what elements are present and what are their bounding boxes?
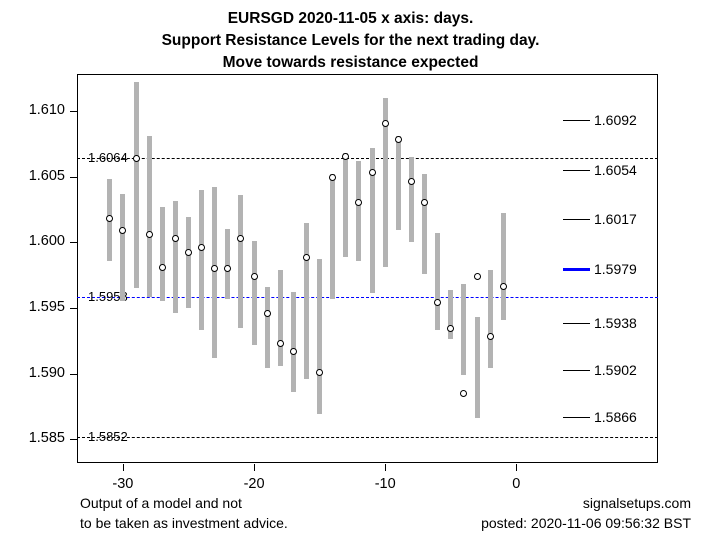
y-tick-mark — [70, 308, 77, 309]
disclaimer-line-2: to be taken as investment advice. — [80, 515, 288, 531]
y-tick-label: 1.610 — [5, 102, 65, 118]
level-line — [77, 437, 658, 438]
price-range-bar — [120, 194, 125, 302]
close-marker — [159, 264, 166, 271]
price-range-bar — [409, 157, 414, 242]
close-marker — [172, 235, 179, 242]
y-tick-mark — [70, 177, 77, 178]
price-range-bar — [291, 292, 296, 392]
x-tick-mark — [385, 464, 386, 471]
close-marker — [369, 169, 376, 176]
chart-title: EURSGD 2020-11-05 x axis: days. Support … — [0, 8, 701, 74]
close-marker — [146, 231, 153, 238]
close-marker — [198, 244, 205, 251]
close-marker — [316, 369, 323, 376]
legend-label: 1.5866 — [594, 409, 637, 425]
y-tick-label: 1.595 — [5, 299, 65, 315]
price-range-bar — [304, 223, 309, 379]
price-range-bar — [356, 161, 361, 261]
legend-label: 1.5902 — [594, 362, 637, 378]
x-tick-mark — [516, 464, 517, 471]
price-range-bar — [252, 241, 257, 345]
legend-marker — [563, 417, 590, 418]
close-marker — [290, 348, 297, 355]
price-range-bar — [238, 195, 243, 328]
price-range-bar — [330, 174, 335, 299]
price-range-bar — [422, 174, 427, 274]
price-range-bar — [475, 317, 480, 418]
x-tick-label: -10 — [355, 476, 415, 492]
price-range-bar — [343, 153, 348, 257]
y-tick-label: 1.600 — [5, 233, 65, 249]
y-tick-mark — [70, 439, 77, 440]
legend-label: 1.5979 — [594, 261, 637, 277]
y-tick-label: 1.585 — [5, 430, 65, 446]
level-line-label: 1.5852 — [88, 429, 128, 444]
y-tick-mark — [70, 374, 77, 375]
x-tick-label: -30 — [93, 476, 153, 492]
y-tick-label: 1.590 — [5, 365, 65, 381]
price-range-bar — [186, 217, 191, 308]
close-marker — [264, 310, 271, 317]
disclaimer-line-1: Output of a model and not — [80, 495, 242, 511]
posted-timestamp: posted: 2020-11-06 09:56:32 BST — [481, 515, 691, 531]
legend-label: 1.6017 — [594, 211, 637, 227]
price-range-bar — [134, 82, 139, 288]
site-name: signalsetups.com — [583, 495, 691, 511]
price-range-bar — [435, 233, 440, 330]
price-range-bar — [317, 259, 322, 414]
price-range-bar — [461, 284, 466, 375]
close-marker — [277, 340, 284, 347]
y-tick-mark — [70, 111, 77, 112]
level-line — [77, 158, 658, 159]
legend-marker — [563, 219, 590, 220]
price-range-bar — [199, 190, 204, 331]
price-range-bar — [501, 213, 506, 319]
legend-label: 1.6092 — [594, 112, 637, 128]
price-range-bar — [488, 270, 493, 369]
legend-marker-current — [563, 268, 590, 271]
legend-marker — [563, 120, 590, 121]
y-tick-label: 1.605 — [5, 168, 65, 184]
legend-marker — [563, 170, 590, 171]
title-line-3: Move towards resistance expected — [0, 52, 701, 74]
close-marker — [133, 155, 140, 162]
close-marker — [474, 273, 481, 280]
price-range-bar — [160, 207, 165, 302]
price-range-bar — [278, 270, 283, 366]
close-marker — [487, 333, 494, 340]
x-tick-mark — [254, 464, 255, 471]
title-line-2: Support Resistance Levels for the next t… — [0, 30, 701, 52]
x-tick-label: 0 — [486, 476, 546, 492]
price-range-bar — [212, 187, 217, 358]
price-range-bar — [396, 136, 401, 231]
price-range-bar — [265, 287, 270, 368]
chart-root: EURSGD 2020-11-05 x axis: days. Support … — [0, 0, 701, 560]
price-range-bar — [147, 136, 152, 298]
price-range-bar — [173, 201, 178, 313]
title-line-1: EURSGD 2020-11-05 x axis: days. — [0, 8, 701, 30]
y-tick-mark — [70, 242, 77, 243]
x-tick-mark — [123, 464, 124, 471]
legend-marker — [563, 370, 590, 371]
legend-label: 1.5938 — [594, 315, 637, 331]
price-range-bar — [225, 229, 230, 299]
legend-marker — [563, 323, 590, 324]
level-line-label: 1.6064 — [88, 150, 128, 165]
legend-label: 1.6054 — [594, 162, 637, 178]
close-marker — [251, 273, 258, 280]
x-tick-label: -20 — [224, 476, 284, 492]
close-marker — [395, 136, 402, 143]
